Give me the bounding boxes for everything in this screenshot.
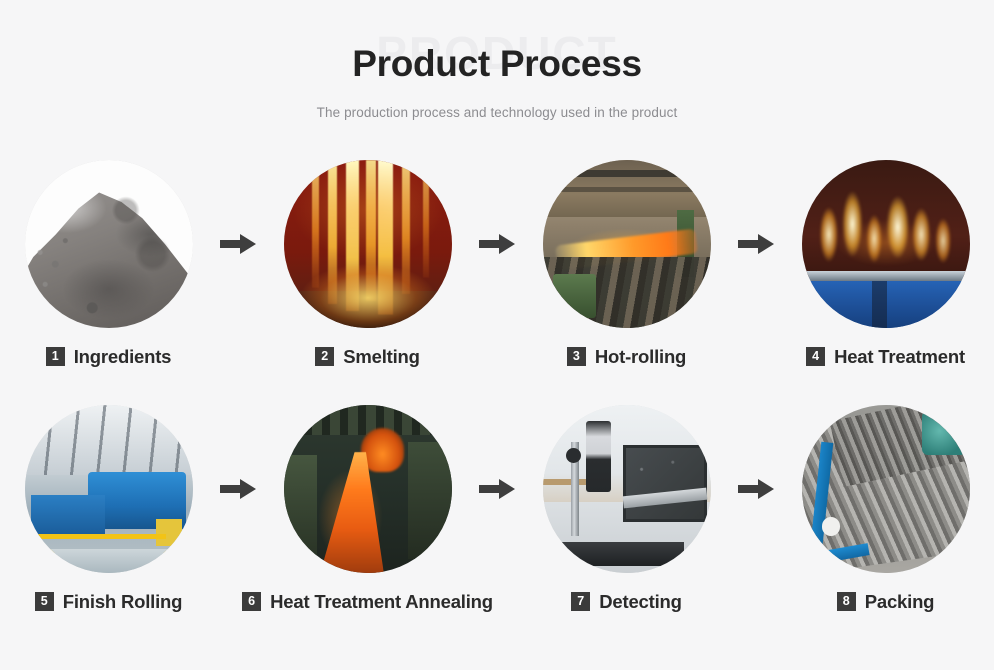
factory-blue-machinery-image — [25, 405, 193, 573]
process-row-2: 5 Finish Rolling 6 — [0, 403, 994, 648]
step-label: Packing — [865, 591, 935, 613]
step-label: Detecting — [599, 591, 682, 613]
step-caption: 5 Finish Rolling — [35, 591, 183, 613]
process-steps: 1 Ingredients 2 Smelting — [0, 158, 994, 648]
microscope-inspection-monitor-image — [543, 405, 711, 573]
process-step-7[interactable]: 7 Detecting — [524, 403, 729, 613]
step-thumbnail-wrap — [800, 158, 972, 330]
product-process-infographic: PRODUCT Product Process The production p… — [0, 0, 994, 670]
step-thumbnail-wrap — [541, 158, 713, 330]
glowing-strip-furnace-tunnel-image — [284, 405, 452, 573]
process-step-4[interactable]: 4 Heat Treatment — [783, 158, 988, 368]
step-caption: 7 Detecting — [571, 591, 682, 613]
arrow-right-icon — [211, 403, 265, 575]
step-number-badge: 1 — [46, 347, 65, 366]
process-step-6[interactable]: 6 Heat Treatment Annealing — [265, 403, 470, 613]
step-caption: 2 Smelting — [315, 346, 420, 368]
step-caption: 1 Ingredients — [46, 346, 172, 368]
step-number-badge: 7 — [571, 592, 590, 611]
header: PRODUCT Product Process The production p… — [0, 0, 994, 120]
step-number-badge: 8 — [837, 592, 856, 611]
arrow-right-icon — [729, 403, 783, 575]
step-caption: 6 Heat Treatment Annealing — [242, 591, 493, 613]
step-thumbnail-wrap — [23, 158, 195, 330]
page-title: Product Process — [0, 44, 994, 85]
rolling-mill-glowing-billet-image — [543, 160, 711, 328]
furnace-flames-blue-tank-image — [802, 160, 970, 328]
process-step-8[interactable]: 8 Packing — [783, 403, 988, 613]
step-thumbnail-wrap — [800, 403, 972, 575]
process-step-5[interactable]: 5 Finish Rolling — [6, 403, 211, 613]
step-label: Heat Treatment — [834, 346, 965, 368]
step-number-badge: 5 — [35, 592, 54, 611]
step-thumbnail-wrap — [23, 403, 195, 575]
arrow-right-icon — [470, 158, 524, 330]
step-thumbnail-wrap — [541, 403, 713, 575]
step-thumbnail-wrap — [282, 403, 454, 575]
step-caption: 8 Packing — [837, 591, 935, 613]
step-thumbnail-wrap — [282, 158, 454, 330]
molten-metal-pour-image — [284, 160, 452, 328]
step-number-badge: 6 — [242, 592, 261, 611]
process-row-1: 1 Ingredients 2 Smelting — [0, 158, 994, 403]
arrow-right-icon — [470, 403, 524, 575]
step-caption: 3 Hot-rolling — [567, 346, 686, 368]
bundled-steel-bars-image — [802, 405, 970, 573]
process-step-2[interactable]: 2 Smelting — [265, 158, 470, 368]
step-label: Ingredients — [74, 346, 172, 368]
step-label: Smelting — [343, 346, 420, 368]
step-number-badge: 2 — [315, 347, 334, 366]
arrow-right-icon — [211, 158, 265, 330]
step-label: Hot-rolling — [595, 346, 686, 368]
process-step-1[interactable]: 1 Ingredients — [6, 158, 211, 368]
step-label: Finish Rolling — [63, 591, 183, 613]
gray-metal-powder-heap-image — [25, 160, 193, 328]
step-number-badge: 3 — [567, 347, 586, 366]
step-number-badge: 4 — [806, 347, 825, 366]
page-subtitle: The production process and technology us… — [0, 105, 994, 120]
step-caption: 4 Heat Treatment — [806, 346, 965, 368]
arrow-right-icon — [729, 158, 783, 330]
step-label: Heat Treatment Annealing — [270, 591, 493, 613]
process-step-3[interactable]: 3 Hot-rolling — [524, 158, 729, 368]
